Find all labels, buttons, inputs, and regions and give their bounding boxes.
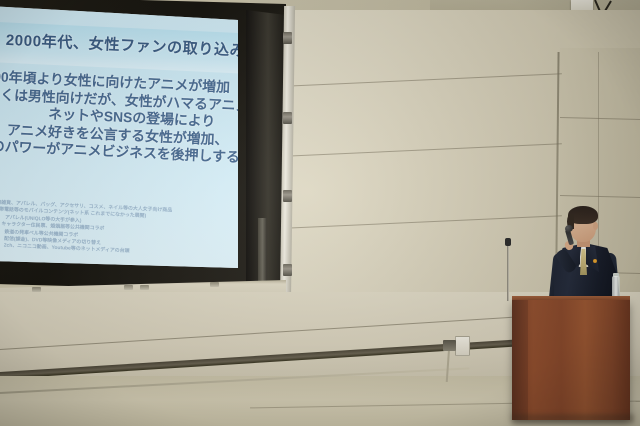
slide-body: 2000年頃より女性に向けたアニメが増加 若しくは男性向けだが、女性がハマるアニ…: [0, 68, 244, 168]
projection-screen: 2000年代、女性ファンの取り込み 2000年頃より女性に向けたアニメが増加 若…: [0, 6, 244, 274]
mic-stand-pole: [507, 245, 509, 301]
ledge-clip: [140, 285, 149, 290]
lecture-hall-photo: 2000年代、女性ファンの取り込み 2000年頃より女性に向けたアニメが増加 若…: [0, 0, 640, 426]
lapel-pin-icon: [593, 259, 597, 263]
power-plug: [443, 340, 456, 351]
recess-metal-plate: [258, 218, 267, 288]
presentation-slide: 2000年代、女性ファンの取り込み 2000年頃より女性に向けたアニメが増加 若…: [0, 6, 244, 274]
podium-side-panel: [512, 300, 528, 420]
wall-outlet: [455, 336, 470, 356]
ledge-clip: [124, 285, 133, 290]
mic-stand-head: [505, 238, 511, 246]
presenter-ear: [593, 222, 598, 230]
podium: [512, 300, 630, 420]
hinge-icon: [283, 32, 292, 44]
hinge-icon: [283, 112, 292, 124]
hinge-icon: [283, 264, 292, 276]
slide-notes: メビジネス 日用雑貨、アパレル、バッグ、アクセサリ、コスメ、ネイル等の大人女子向…: [0, 198, 244, 261]
ledge-clip: [210, 282, 219, 287]
water-bottle: [612, 276, 620, 298]
podium-shadow: [512, 414, 634, 423]
hinge-icon: [283, 190, 292, 202]
